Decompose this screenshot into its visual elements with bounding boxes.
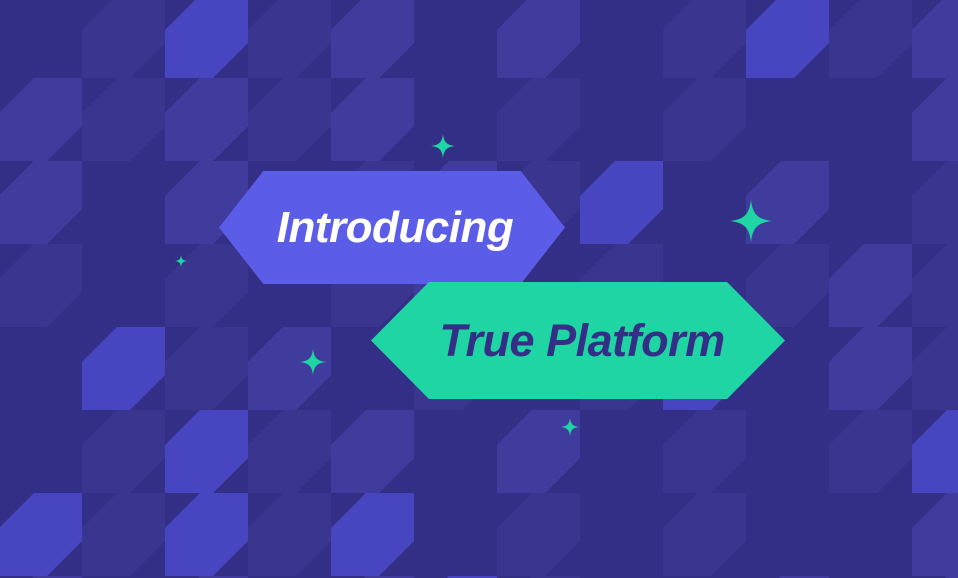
pattern-tile <box>165 244 248 327</box>
banner-true-platform-label: True Platform <box>431 318 724 363</box>
pattern-tile <box>331 410 414 493</box>
pattern-tile <box>497 410 580 493</box>
pattern-tile <box>829 0 912 78</box>
pattern-tile <box>580 161 663 244</box>
pattern-tile <box>0 161 82 244</box>
banner-true-platform: True Platform <box>371 282 785 399</box>
pattern-tile <box>82 410 165 493</box>
pattern-tile <box>829 327 912 410</box>
pattern-tile <box>497 493 580 576</box>
pattern-tile <box>912 327 958 410</box>
pattern-tile <box>663 410 746 493</box>
pattern-tile <box>165 327 248 410</box>
banner-introducing: Introducing <box>219 171 565 284</box>
pattern-tile <box>248 493 331 576</box>
pattern-tile <box>746 0 829 78</box>
pattern-tile <box>663 0 746 78</box>
pattern-tile <box>165 78 248 161</box>
sparkle-tiny-left-icon <box>175 255 187 267</box>
pattern-tile <box>497 78 580 161</box>
pattern-tile <box>248 327 331 410</box>
pattern-tile <box>165 493 248 576</box>
pattern-tile <box>165 410 248 493</box>
sparkle-medium-top-icon <box>431 134 455 158</box>
pattern-tile <box>663 78 746 161</box>
pattern-tile <box>829 244 912 327</box>
pattern-tile <box>331 78 414 161</box>
pattern-tile <box>912 0 958 78</box>
pattern-tile <box>912 161 958 244</box>
pattern-tile <box>746 161 829 244</box>
pattern-tile <box>912 410 958 493</box>
pattern-tile <box>0 244 82 327</box>
pattern-tile <box>248 410 331 493</box>
pattern-tile <box>82 0 165 78</box>
pattern-tile <box>82 493 165 576</box>
pattern-tile <box>497 0 580 78</box>
pattern-tile <box>912 244 958 327</box>
pattern-tile <box>248 78 331 161</box>
pattern-tile <box>912 493 958 576</box>
pattern-tile <box>663 493 746 576</box>
pattern-tile <box>82 327 165 410</box>
pattern-tile <box>82 78 165 161</box>
pattern-tile <box>0 493 82 576</box>
banner-introducing-label: Introducing <box>271 206 513 250</box>
pattern-tile <box>0 78 82 161</box>
pattern-tile <box>165 0 248 78</box>
pattern-tile <box>912 78 958 161</box>
pattern-tile <box>331 493 414 576</box>
pattern-tile <box>829 410 912 493</box>
pattern-tile <box>248 0 331 78</box>
sparkle-small-bottom-icon <box>561 418 579 436</box>
pattern-tile <box>331 0 414 78</box>
sparkle-medium-left-icon <box>300 349 326 375</box>
sparkle-large-right-icon <box>730 200 772 242</box>
promo-banner-canvas: Introducing True Platform <box>0 0 958 578</box>
